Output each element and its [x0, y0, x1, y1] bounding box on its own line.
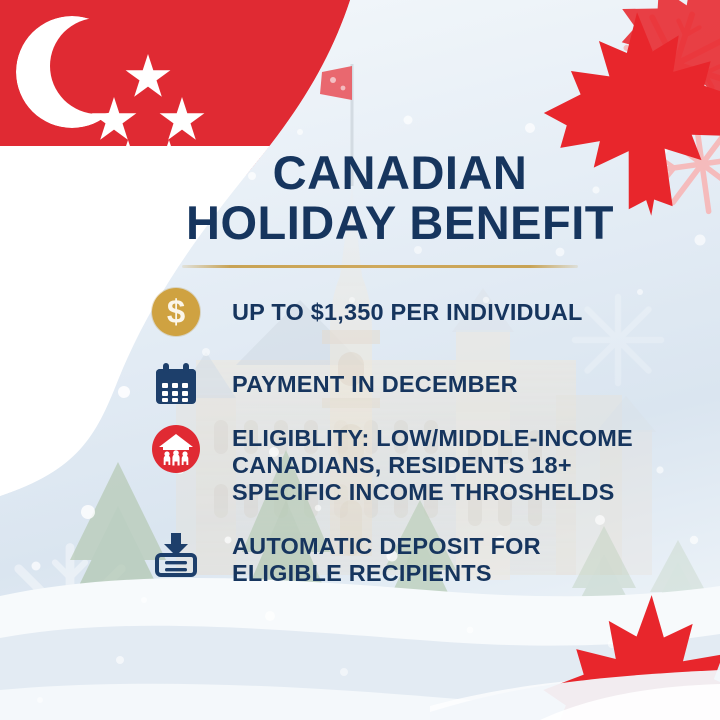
page-title: CANADIAN HOLIDAY BENEFIT	[120, 148, 680, 248]
list-item-label: UP TO $1,350 PER INDIVIDUAL	[204, 288, 583, 326]
gold-divider-rule	[182, 265, 578, 268]
deposit-download-icon	[152, 530, 204, 582]
infographic-poster: CANADIAN HOLIDAY BENEFIT $ UP TO $1,350 …	[0, 0, 720, 720]
family-house-icon	[152, 425, 204, 477]
dollar-coin-icon: $	[152, 288, 204, 340]
list-item: $ UP TO $1,350 PER INDIVIDUAL	[152, 288, 583, 340]
title-line-2: HOLIDAY BENEFIT	[120, 198, 680, 248]
list-item: ELIGIBLITY: LOW/MIDDLE-INCOME CANADIANS,…	[152, 425, 633, 506]
list-item: AUTOMATIC DEPOSIT FOR ELIGIBLE RECIPIENT…	[152, 530, 541, 587]
list-item-label: AUTOMATIC DEPOSIT FOR ELIGIBLE RECIPIENT…	[204, 530, 541, 587]
title-line-1: CANADIAN	[120, 148, 680, 198]
list-item-label: PAYMENT IN DECEMBER	[204, 360, 518, 398]
calendar-icon	[152, 360, 204, 412]
poster-content: CANADIAN HOLIDAY BENEFIT $ UP TO $1,350 …	[0, 0, 720, 720]
list-item: PAYMENT IN DECEMBER	[152, 360, 518, 412]
list-item-label: ELIGIBLITY: LOW/MIDDLE-INCOME CANADIANS,…	[204, 425, 633, 506]
dollar-coin-glyph: $	[167, 295, 185, 328]
